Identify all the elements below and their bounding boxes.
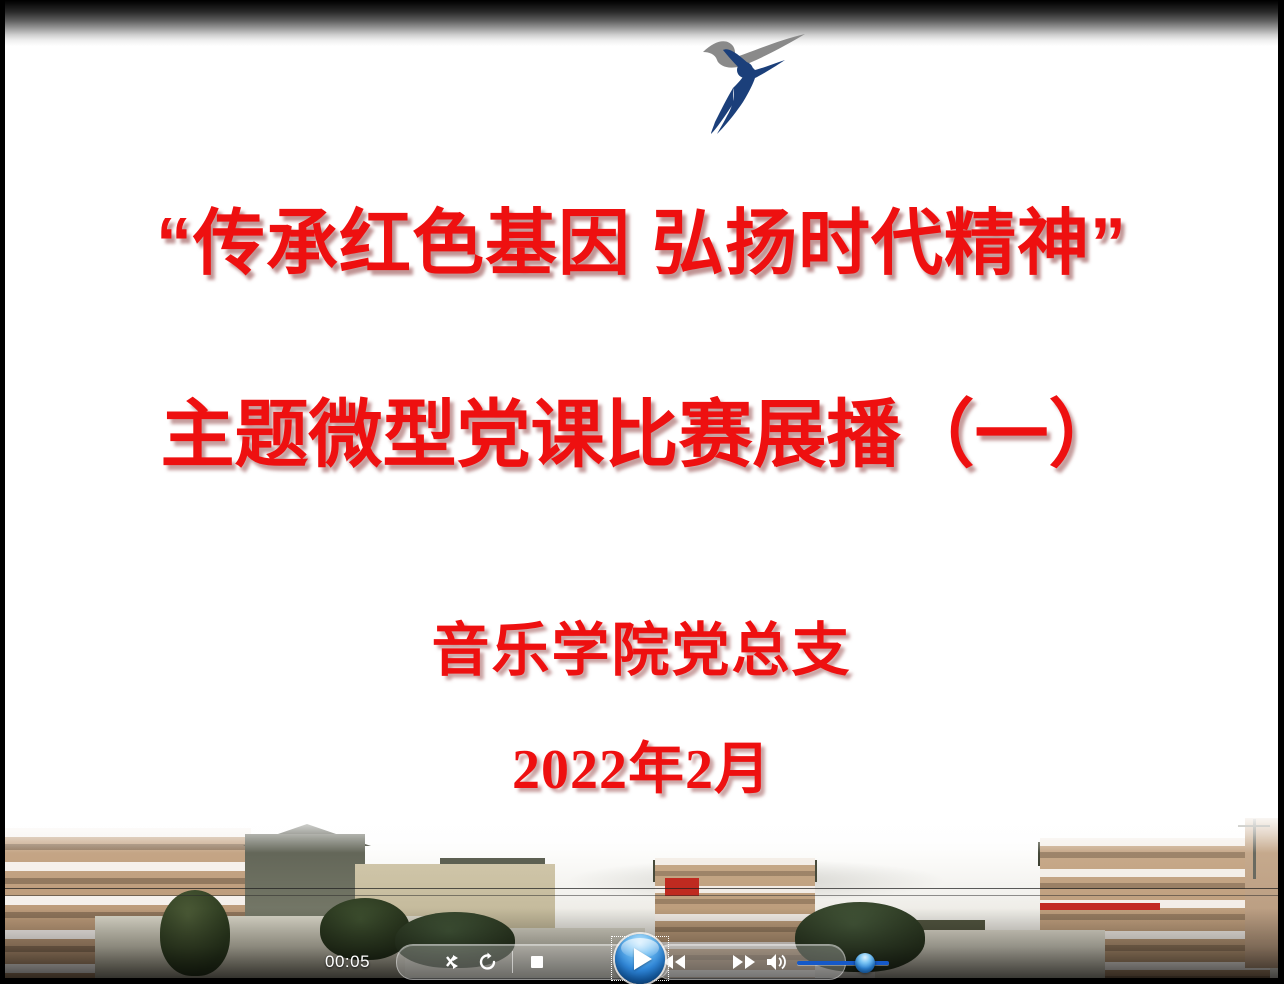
power-line (5, 895, 1278, 896)
photo-top-fade (5, 813, 1278, 853)
slide-surface: “传承红色基因 弘扬时代精神” 主题微型党课比赛展播（一） 音乐学院党总支 20… (5, 0, 1278, 978)
control-divider (512, 951, 513, 973)
play-button-focus-ring[interactable] (611, 936, 669, 981)
slide-organization: 音乐学院党总支 (5, 622, 1278, 680)
slide-date: 2022年2月 (5, 742, 1278, 798)
volume-icon[interactable] (765, 949, 789, 975)
play-button[interactable] (615, 934, 665, 984)
player-control-bar[interactable]: 00:05 (0, 940, 1284, 984)
shuffle-icon[interactable] (437, 948, 471, 976)
play-icon (634, 948, 652, 970)
slide-heading-secondary: 主题微型党课比赛展播（一） (5, 398, 1278, 472)
power-line (5, 888, 1278, 889)
control-group-right (654, 944, 846, 980)
slide-heading-primary: “传承红色基因 弘扬时代精神” (5, 208, 1278, 280)
volume-track[interactable] (797, 961, 889, 965)
video-player[interactable]: “传承红色基因 弘扬时代精神” 主题微型党课比赛展播（一） 音乐学院党总支 20… (0, 0, 1284, 984)
volume-slider[interactable] (797, 952, 845, 972)
stop-icon[interactable] (520, 948, 554, 976)
fast-forward-icon[interactable] (731, 948, 757, 976)
volume-knob[interactable] (855, 953, 875, 973)
dancer-logo (693, 22, 823, 137)
red-banner-center (665, 878, 699, 896)
top-gradient-band (5, 0, 1278, 46)
timecode-display: 00:05 (325, 952, 370, 972)
repeat-icon[interactable] (471, 948, 505, 976)
